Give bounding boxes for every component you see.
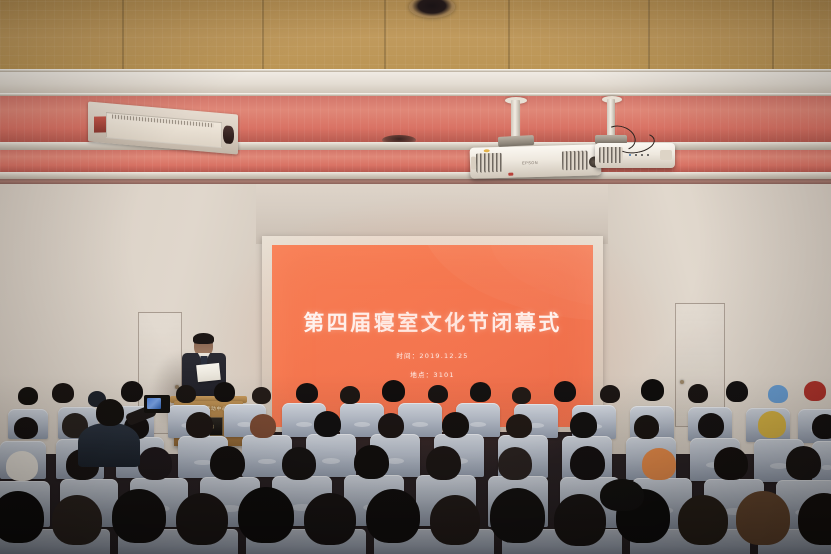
audience-head [314,411,341,437]
audience-head-orange-cap [642,448,676,480]
audience-head [428,385,448,403]
auditorium-seat[interactable] [340,403,384,437]
audience-head-front [430,495,480,545]
audience-head [698,413,724,438]
audience-head [470,382,491,402]
audience-head [378,413,404,438]
audience-head [14,417,38,439]
audience-head [641,379,664,401]
audience-head [554,381,576,402]
audience-head [176,385,196,403]
projector-brand-label: EPSON [522,160,538,165]
audience-head [570,412,597,438]
projector-side-panel [471,157,476,170]
audience-head-front [678,495,728,545]
tinted-ceiling-band-lower [0,150,831,172]
audience-head-front [304,493,356,545]
audience-head [18,387,38,405]
audience-head [512,387,531,404]
audience-head [442,412,469,438]
audience-head-front-brown [736,491,790,545]
camera-operator-body [78,423,140,467]
projector-indicator [484,149,490,152]
audience-head-front [0,491,44,543]
audience-head [426,446,461,480]
audience-head [354,445,389,479]
audience-head [210,446,245,480]
audience-head [688,384,708,403]
projector-epson-left: EPSON [470,144,602,178]
auditorium-seat[interactable] [398,403,442,437]
audience-head [121,381,143,402]
audience-area [0,379,831,554]
audience-head [570,446,605,480]
projector-bracket [498,135,534,147]
audience-head [634,415,659,439]
audience-head-blue-cap [768,385,788,403]
audience-head-front [52,495,102,545]
audience-head [498,447,532,480]
audience-head [252,387,271,404]
camera-operator-head [96,399,124,426]
audience-head-white-hat [6,451,38,481]
audience-head-red-jacket [804,381,826,401]
slide-place-line: 地点：3101 [272,369,593,379]
ac-vent-right [223,125,234,144]
projector-side-panel [660,150,672,160]
audience-head [382,380,405,402]
speaker-hair [193,333,214,344]
wall-above-screen [256,184,608,244]
projector-vent [562,151,588,171]
audience-head-front [366,489,420,543]
audience-head [340,386,360,404]
projector-vent [476,153,502,173]
audience-head-front [238,487,294,543]
ceiling-rail-lower [0,172,831,179]
audience-head-yellow-hood [758,411,786,438]
projector-mount-pole [511,100,520,138]
auditorium-scene: EPSON 第四届寝室文化节闭幕式 时间：2019.12.25 地点：3101 [0,0,831,554]
ac-vent-left [94,116,106,132]
audience-head [138,447,172,480]
audience-head [52,383,74,403]
audience-head [600,385,620,403]
audience-head [214,382,235,402]
audience-head [812,414,831,439]
audience-head [186,412,213,438]
audience-head [714,447,748,480]
audience-head [282,447,316,480]
audience-head [726,381,748,402]
audience-head-front [554,494,606,546]
audience-head [506,414,532,438]
projector-power-led [508,173,513,176]
ceiling-soffit [0,72,831,94]
audience-head-brown-hair [250,414,276,438]
audience-head-front [176,493,228,545]
audience-head [786,446,821,480]
camera-screen [147,398,161,409]
slide-title: 第四届寝室文化节闭幕式 [272,307,593,337]
audience-head-front [112,489,166,543]
audience-black-bucket-hat [600,479,644,511]
audience-head-front [490,488,545,543]
audience-head [296,383,318,403]
slide-time-line: 时间：2019.12.25 [272,350,593,360]
